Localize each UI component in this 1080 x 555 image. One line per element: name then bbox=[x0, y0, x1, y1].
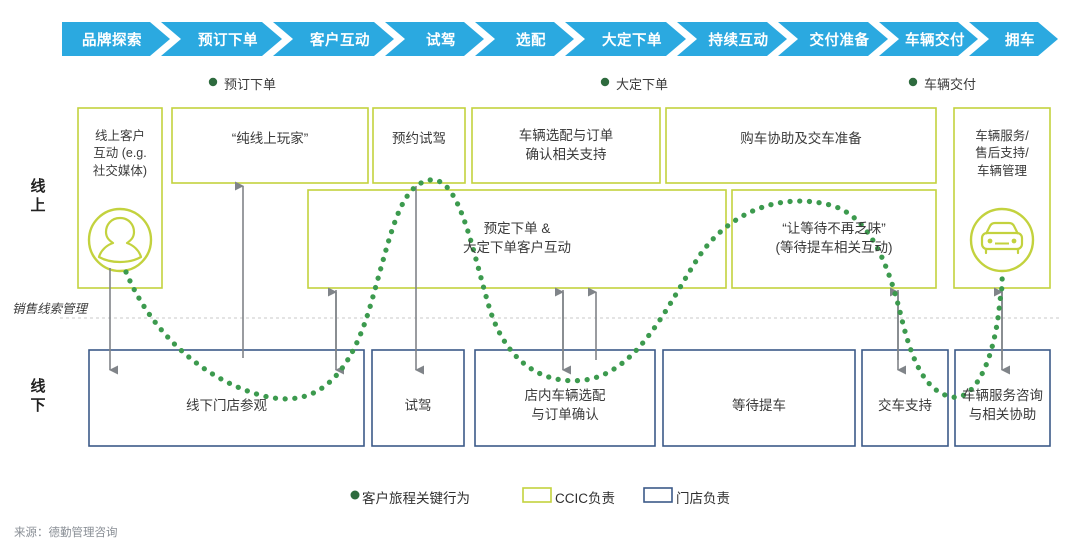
legend-label-ccic: CCIC负责 bbox=[555, 487, 615, 507]
label-test-drive: 试驾 bbox=[372, 358, 464, 454]
chevron-label-4[interactable]: 试驾 bbox=[405, 22, 477, 56]
label-presale-bigorder-interaction: 预定下单 & 大定下单客户互动 bbox=[308, 190, 726, 288]
legend-dot-icon bbox=[351, 491, 360, 500]
label-pure-online-player: “纯线上玩家” bbox=[172, 108, 368, 170]
label-purchase-assist-delivery-prep: 购车协助及交车准备 bbox=[666, 108, 936, 170]
key-moment-label-3: 车辆交付 bbox=[924, 74, 976, 93]
source-note: 来源：德勤管理咨询 bbox=[14, 524, 118, 540]
axis-label-online: 线 上 bbox=[16, 178, 60, 216]
chevron-label-1[interactable]: 品牌探索 bbox=[62, 22, 162, 56]
key-moment-dot bbox=[601, 78, 609, 86]
chevron-label-7[interactable]: 持续互动 bbox=[697, 22, 780, 56]
legend-green-swatch bbox=[523, 488, 551, 502]
label-offline-store-visit: 线下门店参观 bbox=[89, 358, 364, 454]
legend-label-store: 门店负责 bbox=[676, 487, 730, 507]
label-make-waiting-interesting: “让等待不再乏味” (等待提车相关互动) bbox=[732, 190, 936, 288]
axis-label-offline: 线 下 bbox=[16, 378, 60, 416]
label-online-customer-interaction: 线上客户 互动 (e.g. 社交媒体) bbox=[78, 118, 162, 190]
key-moment-dot bbox=[209, 78, 217, 86]
label-vehicle-service-aftersales: 车辆服务/ 售后支持/ 车辆管理 bbox=[954, 118, 1050, 190]
chevron-label-2[interactable]: 预订下单 bbox=[181, 22, 275, 56]
lead-management-label: 销售线索管理 bbox=[12, 298, 87, 317]
legend-blue-swatch bbox=[644, 488, 672, 502]
label-service-consult-assist: 车辆服务咨询 与相关协助 bbox=[955, 358, 1050, 454]
chevron-label-8[interactable]: 交付准备 bbox=[798, 22, 881, 56]
chevron-label-10[interactable]: 拥车 bbox=[989, 22, 1051, 56]
label-config-order-support: 车辆选配与订单 确认相关支持 bbox=[472, 108, 660, 183]
label-delivery-support: 交车支持 bbox=[862, 358, 948, 454]
chevron-label-6[interactable]: 大定下单 bbox=[585, 22, 679, 56]
key-moment-label-2: 大定下单 bbox=[616, 74, 668, 93]
label-book-test-drive: 预约试驾 bbox=[373, 108, 465, 170]
chevron-label-9[interactable]: 车辆交付 bbox=[899, 22, 971, 56]
journey-diagram: 品牌探索 预订下单 客户互动 试驾 选配 大定下单 持续互动 交付准备 车辆交付… bbox=[0, 0, 1080, 555]
label-instore-config-order: 店内车辆选配 与订单确认 bbox=[475, 358, 655, 454]
label-waiting-for-pickup: 等待提车 bbox=[663, 358, 855, 454]
key-moment-dots bbox=[209, 78, 917, 86]
key-moment-label-1: 预订下单 bbox=[224, 74, 276, 93]
legend-label-key-behavior: 客户旅程关键行为 bbox=[362, 487, 470, 507]
chevron-label-3[interactable]: 客户互动 bbox=[293, 22, 387, 56]
chevron-label-5[interactable]: 选配 bbox=[495, 22, 567, 56]
key-moment-dot bbox=[909, 78, 917, 86]
